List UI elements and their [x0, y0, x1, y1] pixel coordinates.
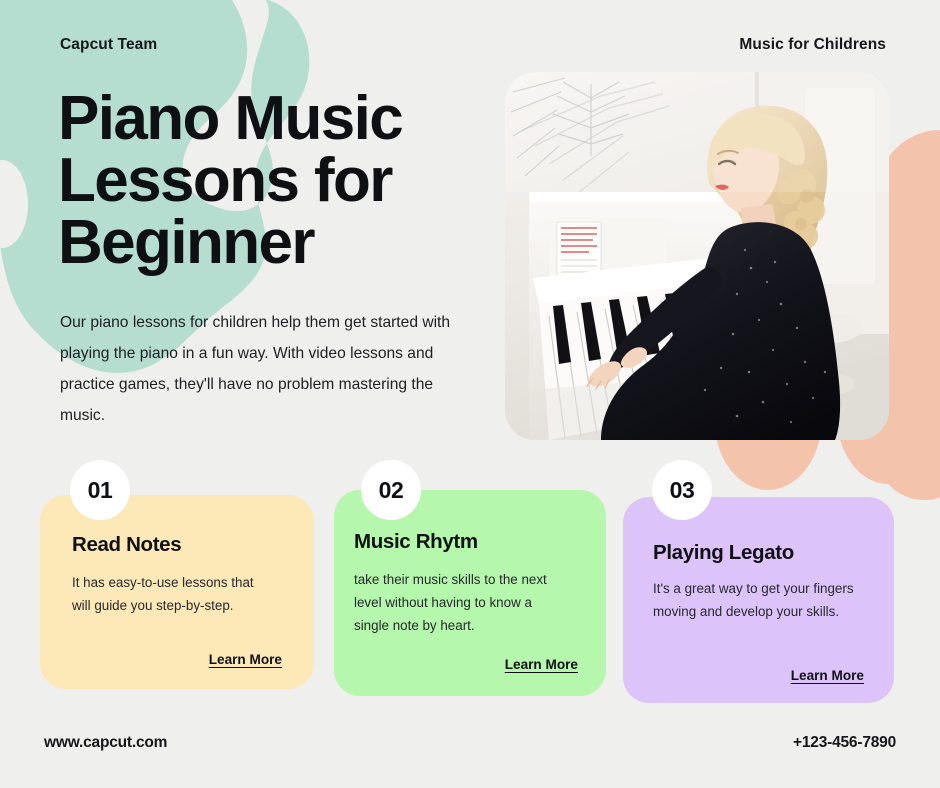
card-body: take their music skills to the next leve…	[354, 568, 562, 637]
card-title: Playing Legato	[653, 541, 794, 565]
poster-header: Capcut Team Music for Childrens	[0, 0, 940, 75]
card-title: Music Rhytm	[354, 530, 478, 554]
learn-more-link[interactable]: Learn More	[209, 652, 282, 667]
card-title: Read Notes	[72, 533, 181, 557]
poster-canvas: Capcut Team Music for Childrens Piano Mu…	[0, 0, 940, 788]
card-number-badge: 02	[361, 460, 421, 520]
card-number-badge: 03	[652, 460, 712, 520]
feature-card[interactable]: Playing Legato It's a great way to get y…	[623, 497, 894, 703]
footer-phone[interactable]: +123-456-7890	[793, 734, 896, 752]
brand-name: Capcut Team	[60, 36, 157, 54]
girl-playing-piano-image	[505, 72, 889, 440]
hero-description: Our piano lessons for children help them…	[60, 307, 460, 431]
feature-card[interactable]: Read Notes It has easy-to-use lessons th…	[40, 495, 314, 689]
footer-website[interactable]: www.capcut.com	[44, 734, 167, 752]
card-body: It has easy-to-use lessons that will gui…	[72, 571, 272, 617]
feature-card[interactable]: Music Rhytm take their music skills to t…	[334, 490, 606, 696]
page-title: Piano Music Lessons for Beginner	[58, 88, 488, 274]
card-number-badge: 01	[70, 460, 130, 520]
learn-more-link[interactable]: Learn More	[505, 657, 578, 672]
tagline: Music for Childrens	[739, 36, 886, 54]
learn-more-link[interactable]: Learn More	[791, 668, 864, 683]
hero-photo	[505, 72, 889, 440]
card-body: It's a great way to get your fingers mov…	[653, 577, 861, 623]
